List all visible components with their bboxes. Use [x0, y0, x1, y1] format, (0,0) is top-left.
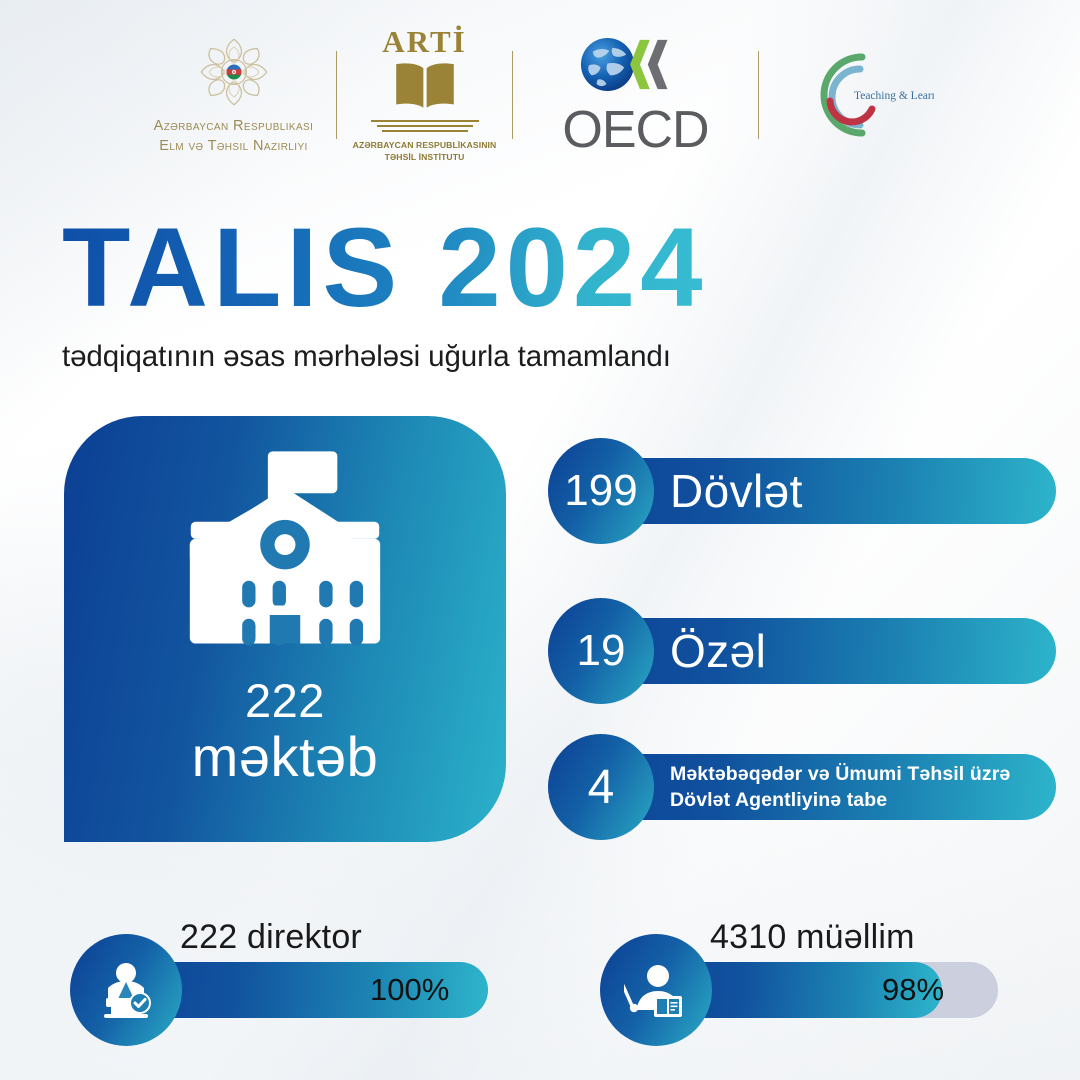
pill-label: Dövlət	[670, 438, 803, 544]
pill-label: Özəl	[670, 598, 766, 704]
stat-caption: 4310 müəllim	[710, 918, 915, 957]
ministry-line-2: Elm və Təhsil Nazirliyi	[159, 138, 307, 154]
arti-acronym: ARTİ	[382, 26, 466, 57]
arti-caption-line-2: TƏHSİL İNSTİTUTU	[385, 152, 465, 162]
arti-rule-lines	[371, 120, 479, 133]
arti-caption-line-1: AZƏRBAYCAN RESPUBLİKASININ	[353, 140, 497, 150]
logo-bar: Azərbaycan Respublikası Elm və Təhsil Na…	[0, 32, 1080, 157]
progress-percent-label: 100%	[370, 962, 449, 1018]
ministry-logo-text: Azərbaycan Respublikası Elm və Təhsil Na…	[154, 117, 314, 156]
page-title: TALIS 2024	[62, 212, 708, 324]
page-subtitle: tədqiqatının əsas mərhələsi uğurla tamam…	[62, 340, 708, 374]
oecd-logo: OECD	[513, 34, 758, 156]
school-label: məktəb	[192, 726, 379, 789]
infographic-canvas: Azərbaycan Respublikası Elm və Təhsil Na…	[0, 0, 1080, 1080]
school-count: 222	[245, 676, 325, 726]
pill-count-badge: 19	[548, 598, 654, 704]
oecd-wordmark: OECD	[562, 104, 708, 156]
breakdown-pill-dovlet[interactable]: 199 Dövlət	[548, 438, 1056, 544]
teaching-learning-logo: Teaching & Learning	[759, 45, 949, 145]
breakdown-pill-agentlik[interactable]: 4 Məktəbəqədər və Ümumi Təhsil üzrə Dövl…	[548, 734, 1056, 840]
progress-percent-label: 98%	[882, 962, 944, 1018]
logo-divider-2	[512, 51, 513, 139]
arti-caption: AZƏRBAYCAN RESPUBLİKASININ TƏHSİL İNSTİT…	[353, 139, 497, 163]
arti-logo: ARTİ AZƏRBAYCAN RESPUBLİKASININ TƏHSİL İ…	[337, 26, 512, 164]
ministry-line-1: Azərbaycan Respublikası	[154, 118, 314, 134]
progress-track	[670, 962, 998, 1018]
ministry-logo: Azərbaycan Respublikası Elm və Təhsil Na…	[131, 33, 336, 156]
stat-caption: 222 direktor	[180, 918, 362, 957]
director-podium-icon	[70, 934, 182, 1046]
teacher-pointer-book-icon	[600, 934, 712, 1046]
oecd-globe-icon	[577, 34, 695, 100]
logo-divider-1	[336, 51, 337, 139]
breakdown-pill-ozel[interactable]: 19 Özəl	[548, 598, 1056, 704]
pill-count-badge: 4	[548, 734, 654, 840]
pill-count-badge: 199	[548, 438, 654, 544]
stat-teachers: 4310 müəllim 98%	[600, 918, 1000, 1058]
school-building-icon	[163, 438, 407, 674]
teaching-learning-arcs-icon: Teaching & Learning	[774, 45, 934, 145]
open-book-icon	[388, 60, 462, 116]
pill-label: Məktəbəqədər və Ümumi Təhsil üzrə Dövlət…	[670, 734, 1056, 840]
school-total-card: 222 məktəb	[64, 416, 506, 842]
logo-divider-3	[758, 51, 759, 139]
stat-directors: 222 direktor 100%	[70, 918, 490, 1058]
azerbaijan-rosette-emblem-icon	[195, 33, 273, 111]
title-block: TALIS 2024 tədqiqatının əsas mərhələsi u…	[62, 212, 708, 374]
svg-text:Teaching & Learning: Teaching & Learning	[854, 90, 934, 102]
